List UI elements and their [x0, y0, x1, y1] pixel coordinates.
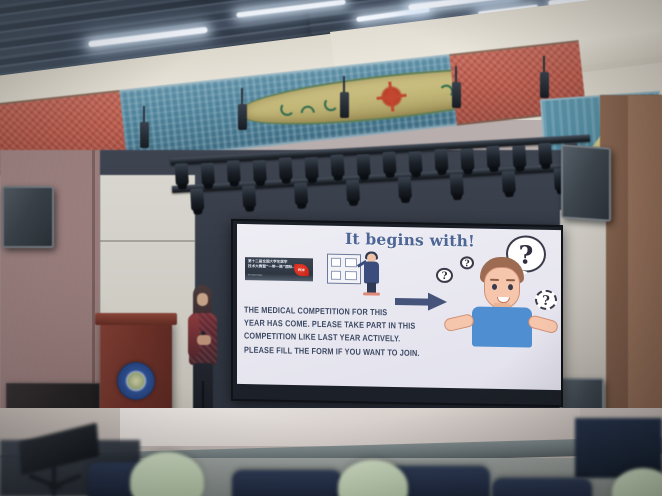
slide-document-thumbnail: 第十二届全国大学生医学 技术大赛暨“一带一路”国际… ………… PDF — [245, 257, 313, 281]
hanging-spotlight — [540, 72, 549, 98]
stage-light-lower — [502, 171, 516, 194]
stage-light — [382, 151, 396, 174]
speaker-cone — [582, 174, 591, 184]
confused-man-illustration: ? ? ? ? — [450, 250, 552, 372]
teacher-body — [364, 261, 379, 283]
teacher-illustration — [361, 253, 383, 295]
stage-light — [538, 143, 552, 166]
music-stand — [8, 432, 98, 496]
audience-chair — [492, 478, 592, 496]
beam-curl-motif — [298, 103, 318, 123]
university-emblem — [117, 362, 155, 400]
stage-light — [356, 154, 370, 177]
stage-light — [253, 160, 267, 183]
question-bubble-medium: ? — [535, 290, 557, 310]
question-bubble-small: ? — [436, 268, 453, 283]
stage-light-lower — [294, 182, 308, 205]
man-eyebrow — [506, 279, 515, 281]
backdrop-panel-seam — [100, 240, 195, 242]
slide-body-text: THE MEDICAL COMPETITION FOR THIS YEAR HA… — [244, 303, 429, 359]
right-wood-column-inner — [628, 95, 662, 455]
beam-curl-motif — [280, 101, 295, 116]
presenter-leg-gap — [202, 381, 204, 411]
lamp-rod — [241, 88, 243, 104]
board-note — [345, 271, 357, 280]
stage-light — [175, 163, 189, 186]
right-wall-speaker — [561, 144, 611, 221]
lamp-rod — [343, 76, 345, 92]
presenter-face — [197, 293, 208, 306]
doc-title-line-2: 技术大赛暨“一带一路”国际… — [248, 264, 300, 270]
stage-light-lower — [190, 188, 204, 211]
hanging-spotlight — [340, 92, 349, 118]
man-shirt — [472, 306, 532, 347]
stage-light — [227, 160, 241, 183]
teacher-shoes — [363, 292, 380, 295]
right-arrow-icon — [395, 293, 447, 310]
stage-light — [305, 157, 319, 180]
stage-light — [408, 151, 422, 174]
stage-light — [330, 154, 344, 177]
hanging-spotlight — [238, 104, 247, 130]
beam-curl-motif — [323, 96, 338, 111]
doc-title-line-3: ………… — [248, 272, 300, 278]
slide-title: It begins with! — [325, 229, 495, 251]
stage-light — [201, 163, 215, 186]
man-eye — [508, 284, 513, 290]
stage-light — [434, 149, 448, 172]
arrow-shaft — [395, 298, 431, 306]
man-hand-left — [443, 313, 475, 332]
hanging-spotlight — [140, 122, 149, 148]
question-bubble-small-2: ? — [460, 256, 474, 269]
hanging-spotlight — [452, 82, 461, 108]
man-eyebrow — [490, 279, 499, 281]
presenter — [186, 285, 220, 417]
music-stand-leg — [52, 462, 56, 496]
slide-body-line: PLEASE FILL THE FORM IF YOU WANT TO JOIN… — [244, 343, 429, 360]
presentation-slide: It begins with! 第十二届全国大学生医学 技术大赛暨“一带一路”国… — [237, 224, 561, 390]
stage-light-lower — [242, 185, 256, 208]
board-note — [331, 258, 341, 267]
stage-light — [460, 148, 474, 171]
stage-light-lower — [398, 177, 412, 200]
stage-light — [279, 157, 293, 180]
stage-light-lower — [450, 174, 464, 197]
board-note — [345, 258, 357, 267]
audience-chair — [232, 470, 342, 496]
stage-light — [512, 145, 526, 168]
board-note — [331, 271, 341, 280]
projection-screen: It begins with! 第十二届全国大学生医学 技术大赛暨“一带一路”国… — [237, 224, 561, 390]
man-eye — [492, 284, 497, 290]
lamp-rod — [143, 106, 145, 122]
speaker-cone — [24, 209, 33, 218]
podium-top — [95, 313, 177, 325]
projection-screen-frame: It begins with! 第十二届全国大学生医学 技术大赛暨“一带一路”国… — [231, 219, 563, 407]
stage-light-lower — [346, 180, 360, 203]
noticeboard-illustration — [327, 254, 361, 285]
presenter-hands — [197, 335, 211, 345]
left-wall-speaker — [2, 186, 54, 248]
beam-sun-motif — [379, 84, 403, 108]
arrow-head — [428, 293, 447, 311]
lamp-rod — [543, 56, 545, 72]
pdf-badge: PDF — [294, 264, 309, 276]
stage-light — [486, 146, 500, 169]
auditorium-photo: It begins with! 第十二届全国大学生医学 技术大赛暨“一带一路”国… — [0, 0, 662, 496]
lamp-rod — [455, 66, 457, 82]
